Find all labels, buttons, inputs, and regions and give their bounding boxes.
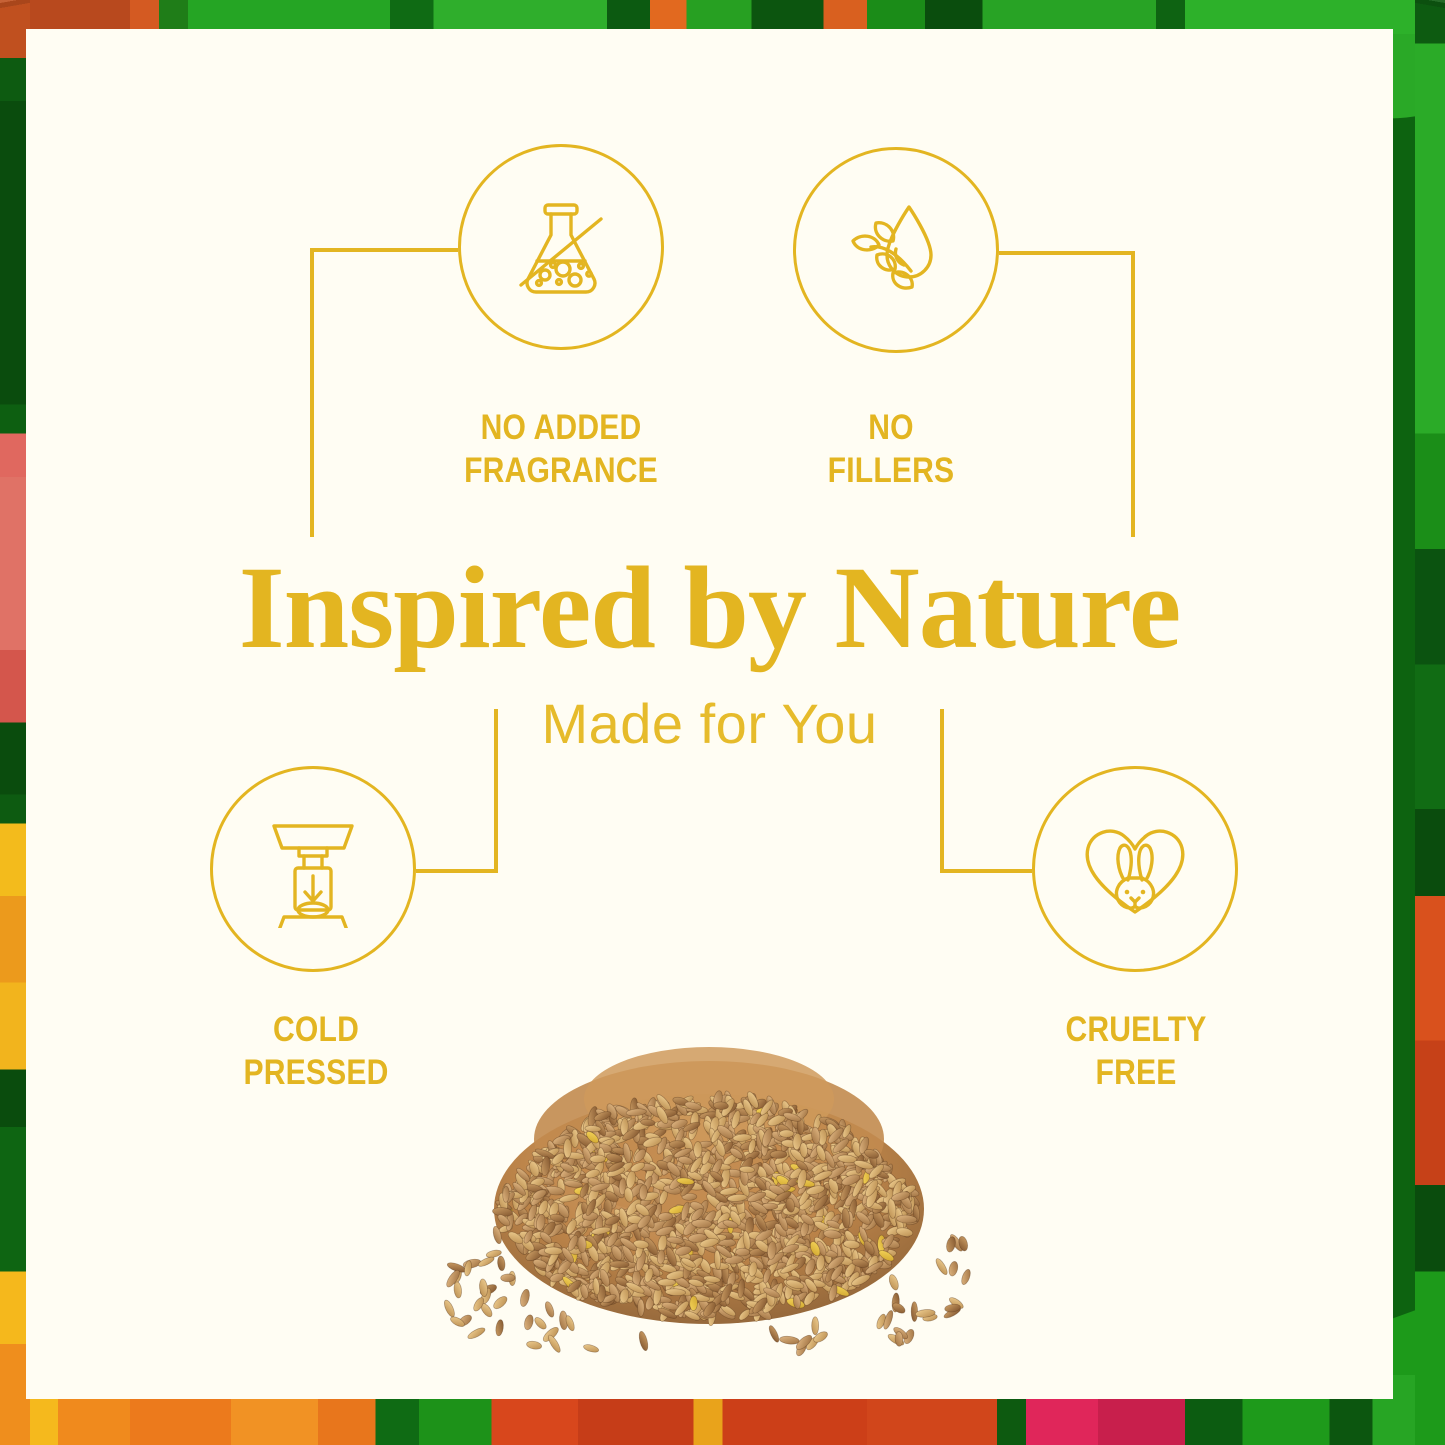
flax-seeds-pile-image: [409, 979, 1009, 1379]
badge-no-added-fragrance: [458, 144, 664, 350]
content-card: NO ADDED FRAGRANCE NO FILLERS COLD PRESS…: [26, 29, 1393, 1399]
press-machine-icon: [254, 810, 372, 928]
page-subtitle: Made for You: [26, 691, 1393, 756]
badge-no-fillers: [793, 147, 999, 353]
border-band-right: [1415, 0, 1445, 1445]
page-title: Inspired by Nature: [26, 549, 1393, 667]
badge-cruelty-free: [1032, 766, 1238, 972]
flask-no-fragrance-icon: [501, 187, 621, 307]
badge-label-cruelty-free: CRUELTY FREE: [994, 1009, 1278, 1094]
badge-cold-pressed: [210, 766, 416, 972]
rabbit-heart-icon: [1074, 808, 1196, 930]
droplet-leaves-icon: [835, 189, 957, 311]
badge-label-no-added-fragrance: NO ADDED FRAGRANCE: [389, 407, 733, 492]
badge-label-no-fillers: NO FILLERS: [749, 407, 1033, 492]
